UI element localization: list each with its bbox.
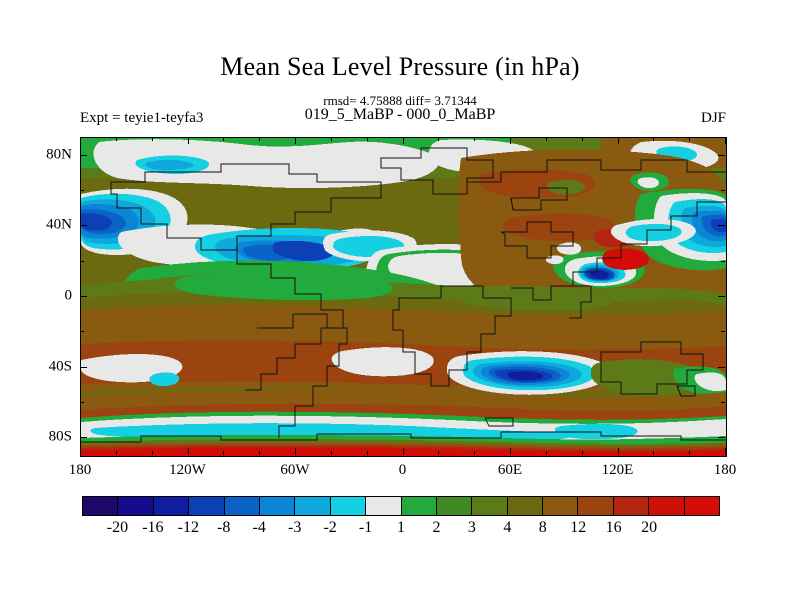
x-tick (582, 451, 583, 455)
colorbar-cell (649, 497, 684, 515)
x-axis-label: 120E (602, 462, 634, 479)
x-tick (152, 137, 153, 141)
colorbar-label: -4 (253, 519, 266, 537)
colorbar-cell (543, 497, 578, 515)
x-tick (438, 137, 439, 141)
y-tick (718, 437, 725, 438)
y-tick (80, 190, 84, 191)
x-tick (367, 451, 368, 455)
x-tick (689, 137, 690, 141)
x-tick (259, 451, 260, 455)
season-label: DJF (701, 110, 726, 127)
x-tick (223, 137, 224, 141)
x-tick (546, 137, 547, 141)
colorbar-cell (189, 497, 224, 515)
y-axis-label: 80N (46, 146, 72, 163)
x-tick (725, 448, 726, 455)
colorbar-label: 4 (503, 519, 511, 537)
colorbar-label: -20 (107, 519, 128, 537)
y-tick (721, 261, 725, 262)
colorbar-label: 8 (539, 519, 547, 537)
y-tick (80, 367, 87, 368)
y-tick (80, 155, 87, 156)
colorbar-cell (685, 497, 719, 515)
x-axis-label: 180 (714, 462, 737, 479)
x-tick (403, 137, 404, 144)
colorbar-cell (260, 497, 295, 515)
colorbar-label: -16 (142, 519, 163, 537)
x-tick (188, 448, 189, 455)
colorbar-label: 20 (641, 519, 657, 537)
colorbar-cell (225, 497, 260, 515)
x-tick (116, 137, 117, 141)
colorbar-label: -2 (323, 519, 336, 537)
x-axis-label: 180 (69, 462, 92, 479)
colorbar-label: -8 (217, 519, 230, 537)
colorbar-cell (154, 497, 189, 515)
colorbar-cell (402, 497, 437, 515)
colorbar-cell (614, 497, 649, 515)
x-tick (152, 451, 153, 455)
colorbar-cell (508, 497, 543, 515)
x-tick (188, 137, 189, 144)
x-axis-label: 60W (280, 462, 309, 479)
x-tick (295, 448, 296, 455)
y-tick (718, 367, 725, 368)
colorbar-label: 2 (432, 519, 440, 537)
page-title: Mean Sea Level Pressure (in hPa) (0, 52, 800, 82)
x-tick (510, 137, 511, 144)
colorbar-cell (83, 497, 118, 515)
colorbar-cell (331, 497, 366, 515)
x-tick (653, 451, 654, 455)
x-tick (725, 137, 726, 144)
map-plot-area (80, 137, 727, 457)
y-tick (80, 296, 87, 297)
x-axis-label: 60E (498, 462, 522, 479)
y-tick (718, 296, 725, 297)
y-tick (721, 190, 725, 191)
x-tick (474, 137, 475, 141)
experiment-label: Expt = teyie1-teyfa3 (80, 110, 203, 127)
colorbar-cell (437, 497, 472, 515)
colorbar-label: 16 (606, 519, 622, 537)
x-tick (331, 451, 332, 455)
x-tick (403, 448, 404, 455)
colorbar-label: -3 (288, 519, 301, 537)
x-tick (223, 451, 224, 455)
colorbar-cell (578, 497, 613, 515)
colorbar-label: 3 (468, 519, 476, 537)
x-tick (689, 451, 690, 455)
x-tick (618, 448, 619, 455)
x-tick (295, 137, 296, 144)
y-tick (721, 331, 725, 332)
y-tick (80, 225, 87, 226)
y-tick (80, 261, 84, 262)
colorbar-cell (366, 497, 401, 515)
figure-canvas: Mean Sea Level Pressure (in hPa) rmsd= 4… (0, 0, 800, 600)
colorbar-label: -1 (359, 519, 372, 537)
x-tick (331, 137, 332, 141)
y-tick (718, 225, 725, 226)
x-tick (259, 137, 260, 141)
colorbar (82, 496, 720, 516)
x-tick (80, 137, 81, 144)
y-axis-label: 80S (49, 429, 72, 446)
x-tick (546, 451, 547, 455)
colorbar-tick-labels: -20-16-12-8-4-3-2-112348121620 (82, 519, 720, 541)
x-tick (510, 448, 511, 455)
colorbar-label: -12 (178, 519, 199, 537)
x-tick (618, 137, 619, 144)
colorbar-label: 12 (570, 519, 586, 537)
y-axis-label: 0 (65, 288, 73, 305)
x-tick (582, 137, 583, 141)
x-tick (653, 137, 654, 141)
colorbar-cell (118, 497, 153, 515)
y-tick (718, 155, 725, 156)
y-axis-label: 40S (49, 358, 72, 375)
y-tick (80, 331, 84, 332)
y-tick (80, 437, 87, 438)
x-tick (367, 137, 368, 141)
y-tick (721, 402, 725, 403)
x-axis-label: 0 (399, 462, 407, 479)
y-axis-labels: 80N40N040S80S (10, 0, 72, 600)
colorbar-cell (472, 497, 507, 515)
x-axis-label: 120W (169, 462, 206, 479)
colorbar-label: 1 (397, 519, 405, 537)
y-tick (80, 402, 84, 403)
y-axis-label: 40N (46, 217, 72, 234)
x-tick (438, 451, 439, 455)
contour-map (81, 138, 726, 456)
colorbar-cell (295, 497, 330, 515)
x-tick (80, 448, 81, 455)
x-tick (474, 451, 475, 455)
x-tick (116, 451, 117, 455)
